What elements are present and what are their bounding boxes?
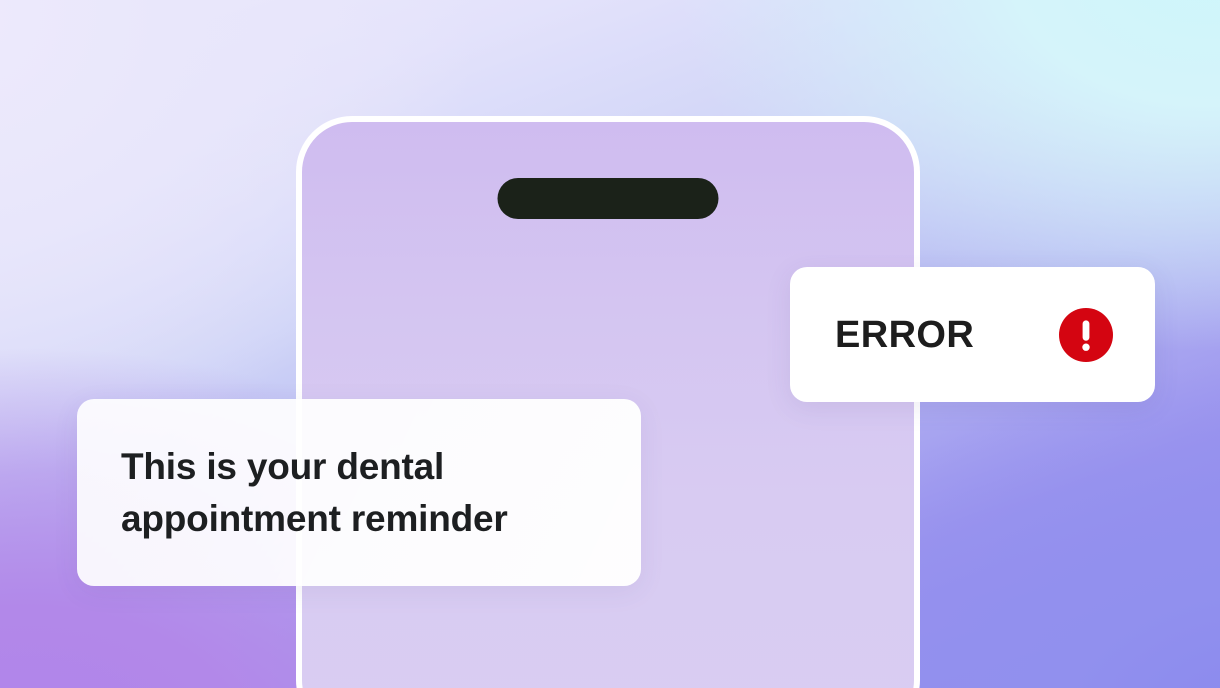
message-line-2: appointment reminder xyxy=(121,493,508,544)
screenshot-canvas: ERROR This is your dental appointment re… xyxy=(0,0,1220,688)
dynamic-island xyxy=(498,178,719,219)
message-card[interactable]: This is your dental appointment reminder xyxy=(77,399,641,586)
error-label: ERROR xyxy=(835,316,974,354)
alert-circle-icon xyxy=(1059,308,1113,362)
error-card[interactable]: ERROR xyxy=(790,267,1155,402)
message-line-1: This is your dental xyxy=(121,441,508,492)
message-text: This is your dental appointment reminder xyxy=(121,441,508,543)
